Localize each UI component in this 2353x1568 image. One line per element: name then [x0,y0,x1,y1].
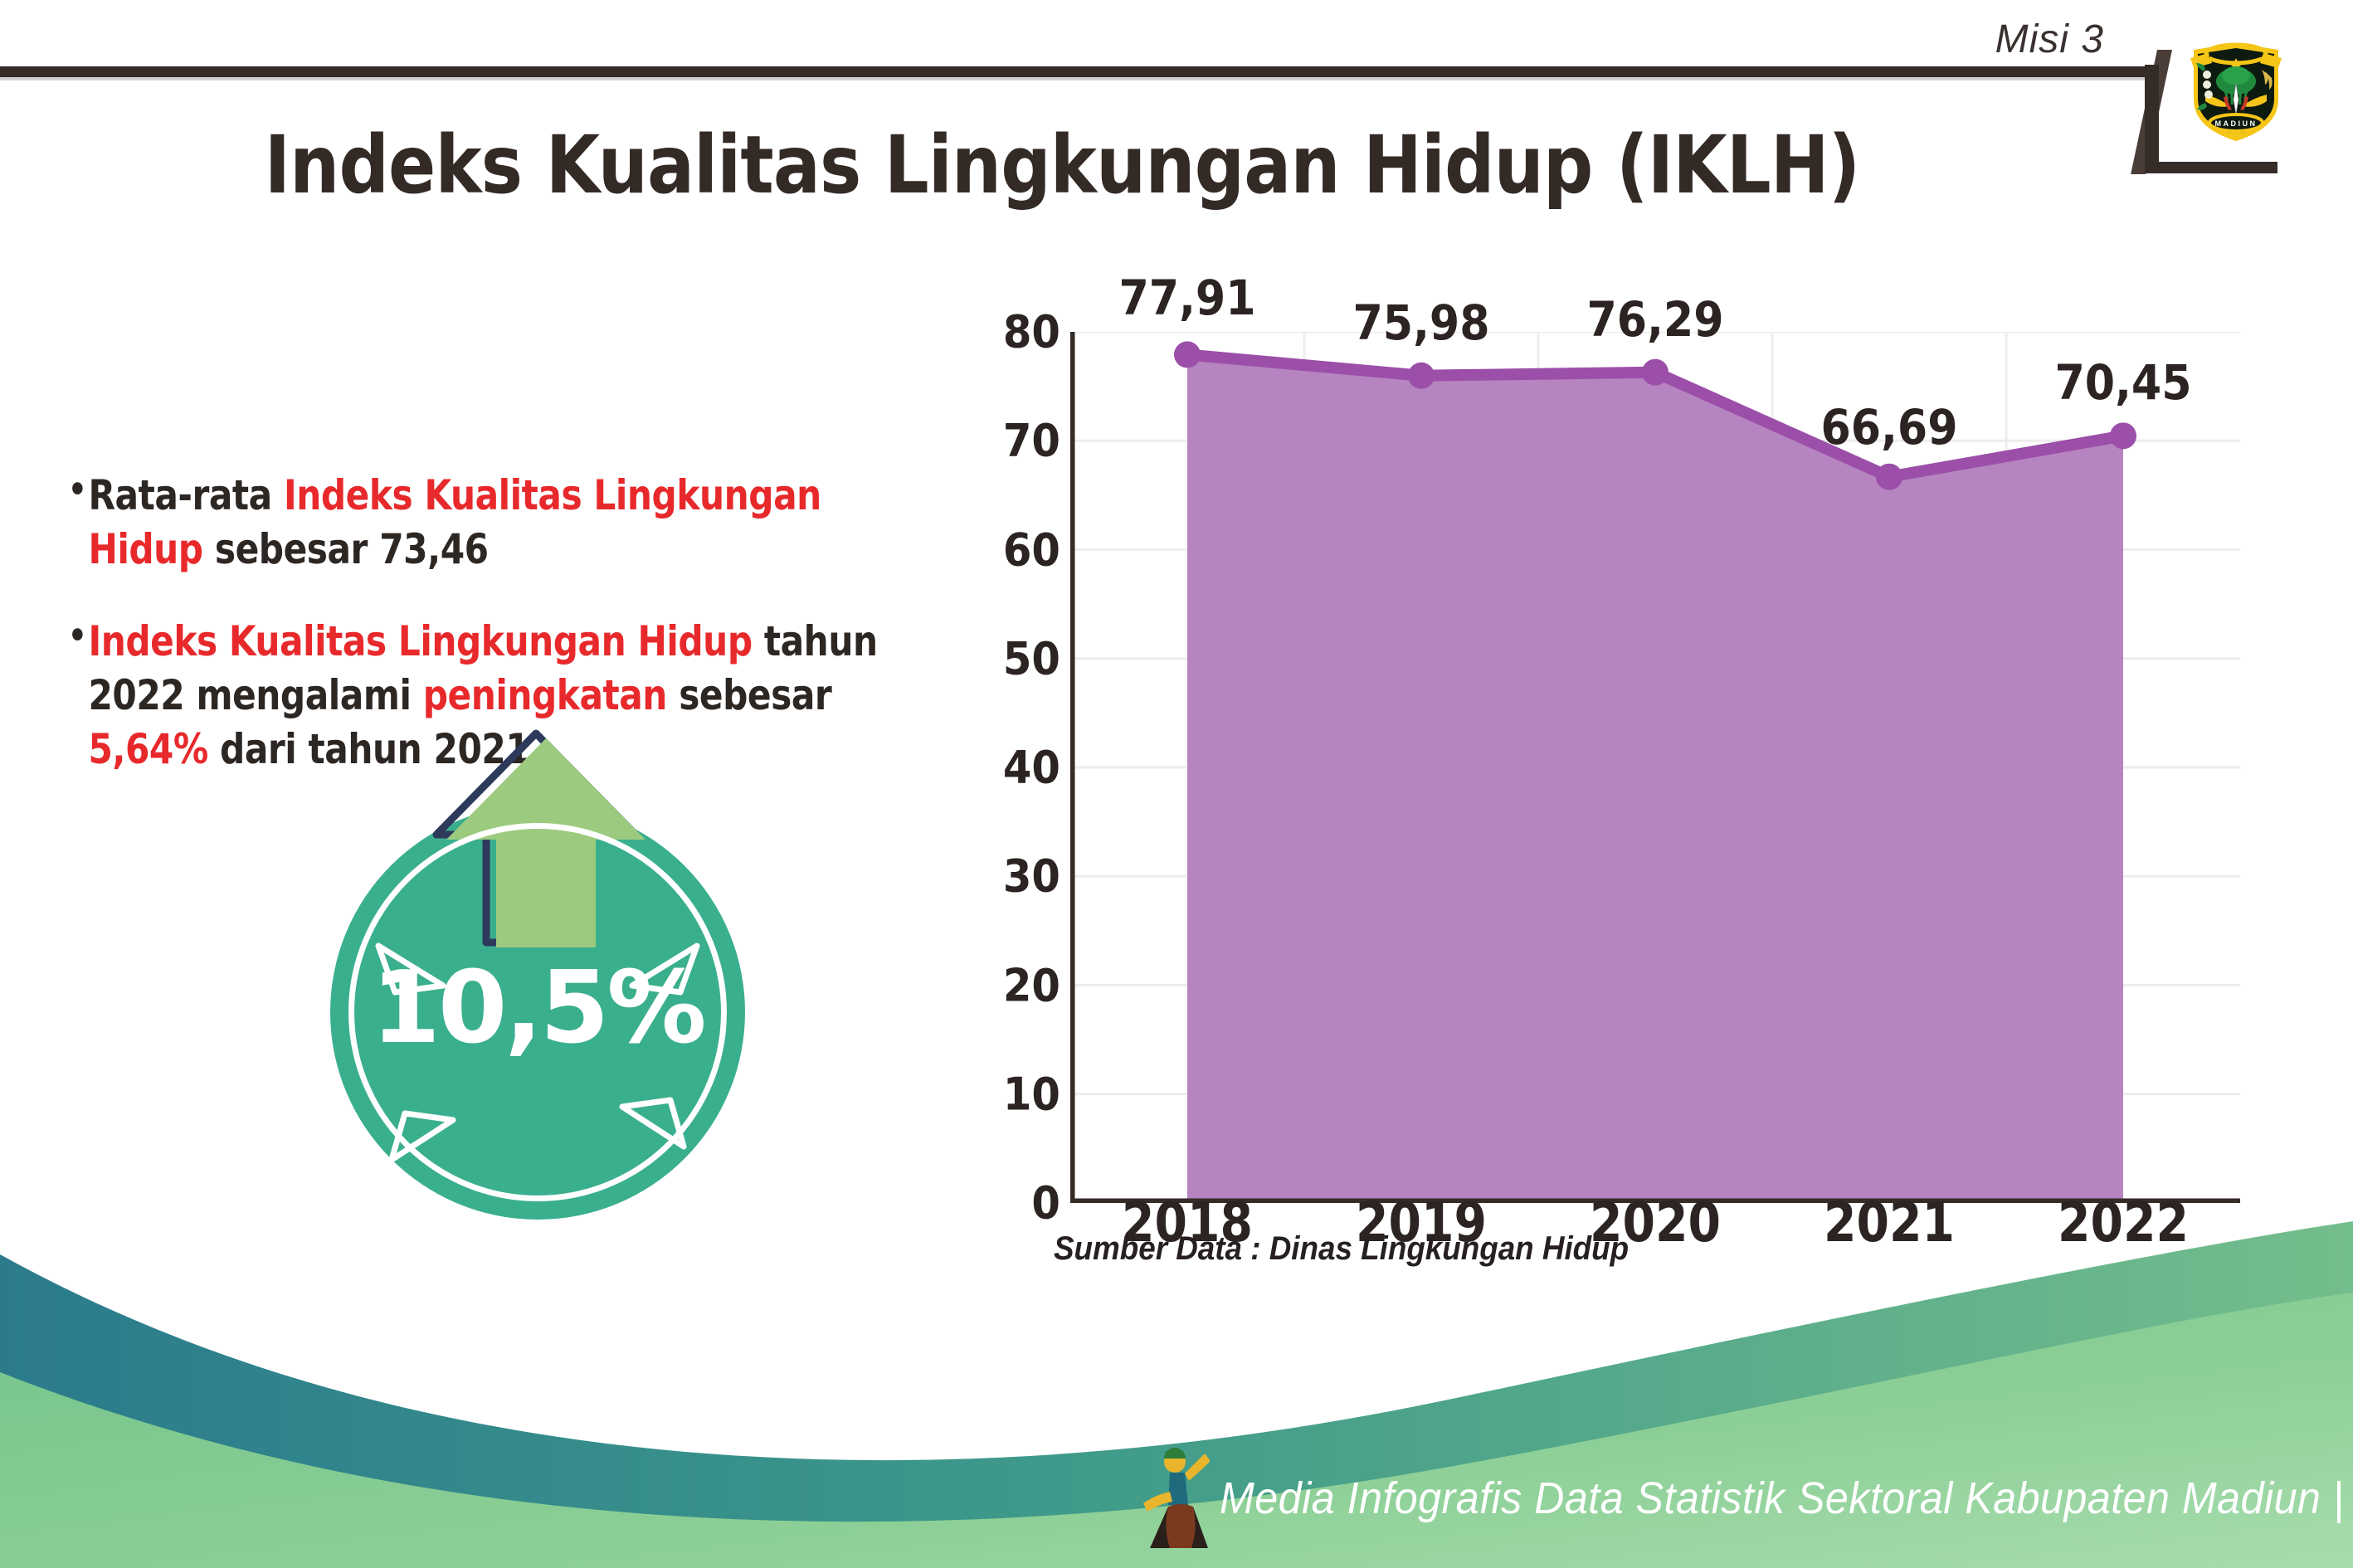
chart-canvas [1070,332,2240,1203]
header-rule [0,66,2145,77]
iklh-area-chart: 01020304050607080 20182019202020212022 7… [962,290,2273,1178]
percentage-badge: 10,5% [330,805,745,1220]
crest-bottom-label: MADIUN [2215,119,2258,128]
y-axis-tick-label: 30 [953,850,1060,903]
header-bracket-vertical [2145,65,2159,173]
header-rule-shadow [0,77,2145,80]
y-axis-tick-label: 70 [953,415,1060,467]
chart-plot-area [1070,332,2240,1203]
data-point-marker [1876,464,1902,490]
footer-text: Media Infografis Data Statistik Sektoral… [1220,1473,2344,1524]
bullet-segment: Indeks Kualitas Lingkungan Hidup [88,617,752,665]
data-point-label: 76,29 [1543,291,1767,348]
list-item: Rata-rata Indeks Kualitas Lingkungan Hid… [68,469,903,577]
data-point-marker [1642,359,1669,386]
data-point-label: 66,69 [1777,399,2001,455]
bullet-segment: Rata-rata [88,471,284,519]
data-point-marker [2110,422,2136,449]
data-point-label: 77,91 [1075,270,1299,326]
data-point-label: 70,45 [2011,354,2235,411]
bullet-segment: 5,64% [88,725,207,773]
y-axis-tick-label: 80 [953,306,1060,358]
bullet-segment: sebesar 73,46 [203,525,489,573]
spark-triangle-bottom-right-icon [617,1095,692,1155]
y-axis-tick-label: 40 [953,742,1060,794]
spark-triangle-bottom-left-icon [383,1108,458,1168]
data-point-label: 75,98 [1309,295,1533,351]
header-bracket-foot [2145,162,2277,173]
badge-value: 10,5% [330,951,745,1066]
infographic-slide: Misi 3 KABUPATEN MADIUN Indeks Kualitas … [0,0,2353,1568]
y-axis-tick-label: 10 [953,1068,1060,1120]
data-point-marker [1174,341,1201,368]
bullet-segment: sebesar [667,671,831,719]
y-axis-tick-label: 60 [953,523,1060,576]
area-fill [1187,354,2123,1203]
data-point-marker [1408,363,1435,389]
kabupaten-madiun-crest-icon: KABUPATEN MADIUN [2187,35,2285,144]
page-title: Indeks Kualitas Lingkungan Hidup (IKLH) [128,119,1997,212]
misi-label: Misi 3 [1995,17,2104,62]
bullet-segment: peningkatan [423,671,667,719]
y-axis-tick-label: 20 [953,959,1060,1011]
crest-top-label: KABUPATEN [2209,51,2263,59]
y-axis-tick-label: 50 [953,632,1060,684]
media-infografis-logo-icon [1140,1445,1210,1548]
